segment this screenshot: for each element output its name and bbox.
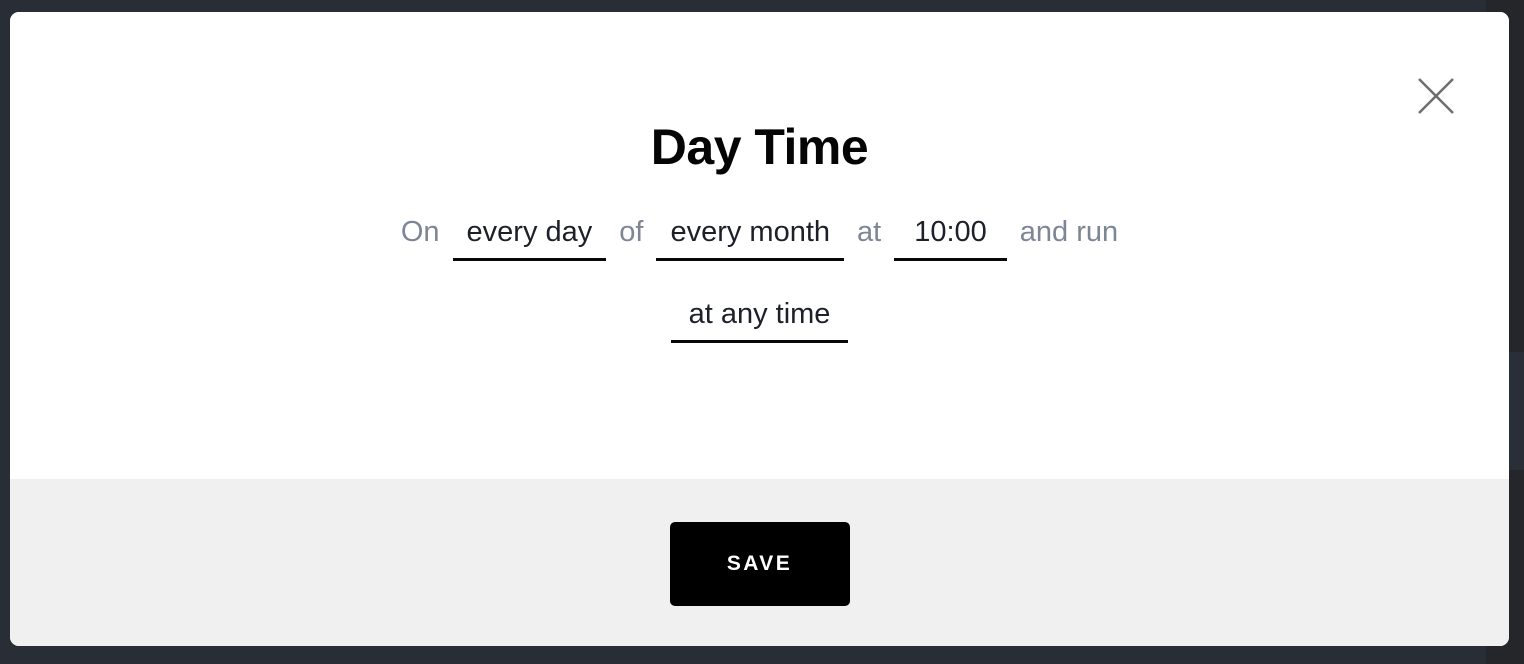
schedule-and-run-label: and run xyxy=(1020,202,1118,262)
day-selector[interactable]: every day xyxy=(453,213,607,261)
time-selector[interactable]: 10:00 xyxy=(894,213,1007,261)
schedule-of-label: of xyxy=(619,202,643,262)
schedule-prefix-label: On xyxy=(401,202,440,262)
run-time-selector[interactable]: at any time xyxy=(671,295,849,343)
schedule-sentence: Onevery dayofevery monthat10:00and run a… xyxy=(10,202,1509,344)
month-selector[interactable]: every month xyxy=(656,213,844,261)
schedule-sentence-line-2: at any time xyxy=(70,284,1449,344)
close-icon xyxy=(1416,76,1456,116)
save-button[interactable]: Save xyxy=(670,522,850,606)
day-time-dialog: Day Time Onevery dayofevery monthat10:00… xyxy=(10,12,1509,646)
dialog-body: Day Time Onevery dayofevery monthat10:00… xyxy=(10,12,1509,479)
schedule-at-label: at xyxy=(857,202,881,262)
close-button[interactable] xyxy=(1405,65,1467,127)
dialog-title: Day Time xyxy=(10,12,1509,172)
backdrop-top-strip xyxy=(0,0,1486,12)
dialog-footer: Save xyxy=(10,479,1509,646)
